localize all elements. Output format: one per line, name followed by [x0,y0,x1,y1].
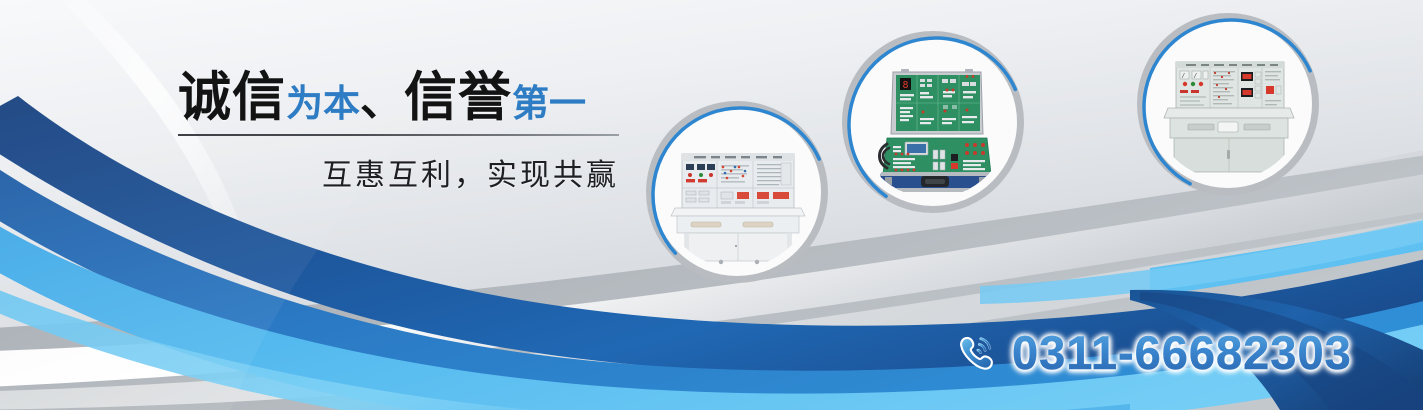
headline-part2-small: 第一 [512,85,586,122]
product-circle-2[interactable]: 8 [849,38,1017,206]
phone-call-icon [952,330,998,376]
contact-block[interactable]: 0311-66682303 [952,325,1352,380]
headline-part1-small: 为本 [286,85,360,122]
svg-text:8: 8 [902,80,908,91]
headline-block: 诚信 为本 、 信誉 第一 互惠互利，实现共赢 [178,62,638,194]
headline-punctuation: 、 [360,79,404,123]
product-circle-1-photo [661,116,813,268]
phone-number[interactable]: 0311-66682303 [1012,325,1352,380]
headline-divider-rule [178,134,619,136]
promotional-banner: 诚信 为本 、 信誉 第一 互惠互利，实现共赢 [0,0,1423,410]
product-circle-3-photo [1152,28,1304,180]
headline-row: 诚信 为本 、 信誉 第一 [178,62,638,124]
headline-part1-big: 诚信 [178,71,286,124]
product-circle-2-photo: 8 [857,46,1009,198]
headline-part2-big: 信誉 [404,71,512,124]
subheadline-text: 互惠互利，实现共赢 [178,150,619,194]
product-circle-3[interactable] [1144,20,1312,188]
product-circle-1[interactable] [653,108,821,276]
